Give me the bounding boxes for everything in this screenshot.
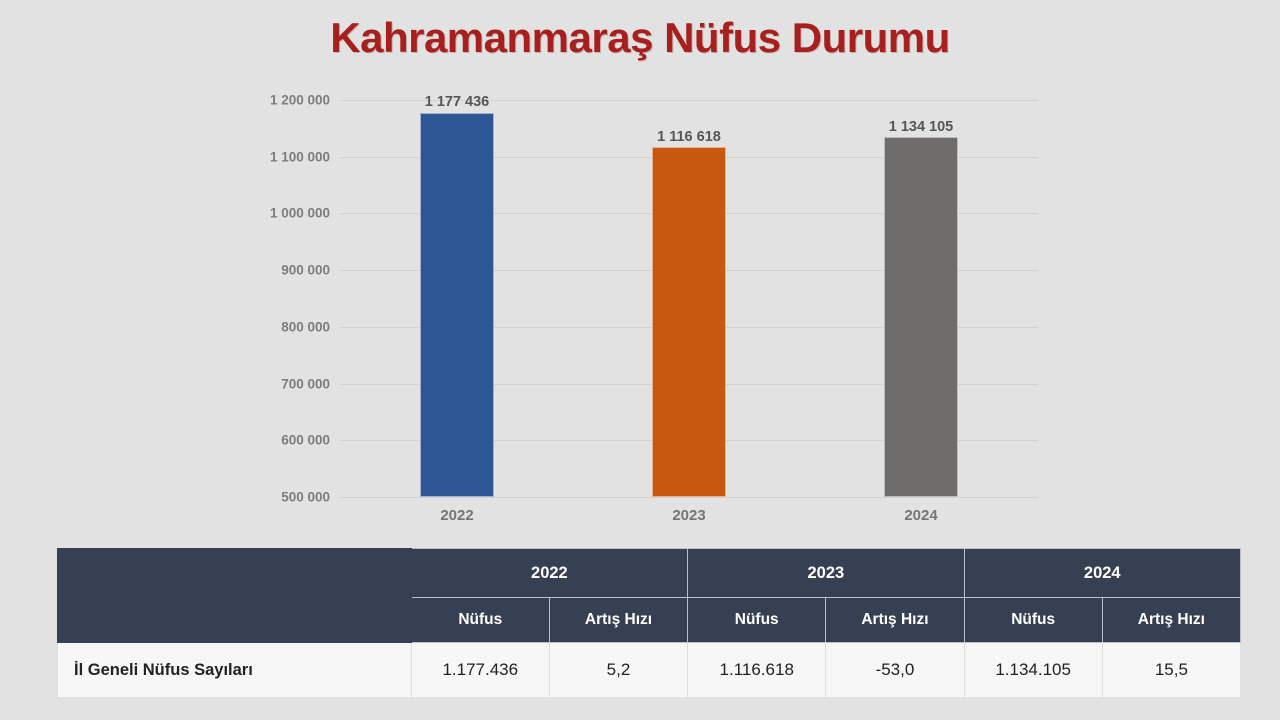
bar-rect[interactable]: [420, 113, 494, 497]
x-axis-label-2024: 2024: [861, 507, 981, 524]
bar-rect[interactable]: [652, 147, 726, 497]
bar-value-label: 1 177 436: [425, 94, 490, 110]
bar-value-label: 1 116 618: [657, 129, 721, 145]
y-axis-tick-label: 600 000: [244, 433, 330, 448]
table-cell-nufus-2024: 1.134.105: [964, 643, 1102, 698]
table-row: İl Geneli Nüfus Sayıları 1.177.436 5,2 1…: [58, 643, 1241, 698]
table-cell-nufus-2022: 1.177.436: [411, 643, 549, 698]
table-year-header-2023: 2023: [688, 549, 964, 598]
bar-rect[interactable]: [884, 137, 958, 497]
chart-plot-area: 1 200 000 1 100 000 1 000 000 900 000 80…: [340, 100, 1038, 497]
table-subheader-artishizi-2024: Artış Hızı: [1102, 598, 1240, 643]
x-axis-label-2022: 2022: [397, 507, 517, 524]
y-axis-tick-label: 500 000: [244, 490, 330, 505]
y-axis-tick-label: 800 000: [244, 319, 330, 334]
x-axis-label-2023: 2023: [629, 507, 749, 524]
bar-value-label: 1 134 105: [889, 119, 954, 135]
table-subheader-artishizi-2022: Artış Hızı: [549, 598, 687, 643]
table-subheader-nufus-2024: Nüfus: [964, 598, 1102, 643]
y-axis-tick-label: 1 100 000: [244, 149, 330, 164]
gridline: [340, 497, 1038, 498]
table-row-label: İl Geneli Nüfus Sayıları: [58, 643, 412, 698]
table-cell-artishizi-2023: -53,0: [826, 643, 964, 698]
bar-chart: 1 200 000 1 100 000 1 000 000 900 000 80…: [0, 84, 1280, 539]
table-subheader-nufus-2022: Nüfus: [411, 598, 549, 643]
table-cell-nufus-2023: 1.116.618: [688, 643, 826, 698]
y-axis-tick-label: 700 000: [244, 376, 330, 391]
y-axis-tick-label: 1 200 000: [244, 93, 330, 108]
population-table: 2022 2023 2024 Nüfus Artış Hızı Nüfus Ar…: [57, 548, 1241, 698]
table-year-header-2024: 2024: [964, 549, 1240, 598]
table-subheader-nufus-2023: Nüfus: [688, 598, 826, 643]
y-axis-tick-label: 1 000 000: [244, 206, 330, 221]
table-header-years: 2022 2023 2024: [58, 549, 1241, 598]
table-corner-cell: [58, 549, 412, 643]
table-cell-artishizi-2022: 5,2: [549, 643, 687, 698]
table-cell-artishizi-2024: 15,5: [1102, 643, 1240, 698]
y-axis-tick-label: 900 000: [244, 263, 330, 278]
page-title: Kahramanmaraş Nüfus Durumu: [0, 14, 1280, 62]
table-year-header-2022: 2022: [411, 549, 687, 598]
table-subheader-artishizi-2023: Artış Hızı: [826, 598, 964, 643]
